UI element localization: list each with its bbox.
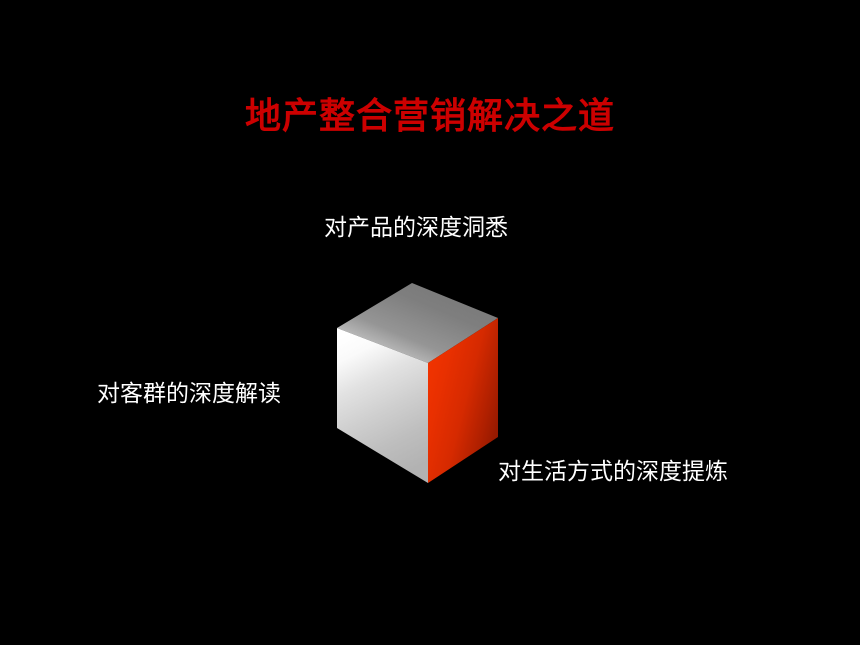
diagram-label-left: 对客群的深度解读 [97, 379, 281, 407]
diagram-label-top: 对产品的深度洞悉 [324, 213, 508, 241]
page-title: 地产整合营销解决之道 [0, 94, 860, 138]
slide-canvas: 地产整合营销解决之道 对产品的深度洞悉 对客群的深度解读 对生活方式的深度提炼 [0, 0, 860, 645]
cube-diagram [320, 270, 520, 500]
diagram-label-bottom-right: 对生活方式的深度提炼 [498, 457, 728, 485]
